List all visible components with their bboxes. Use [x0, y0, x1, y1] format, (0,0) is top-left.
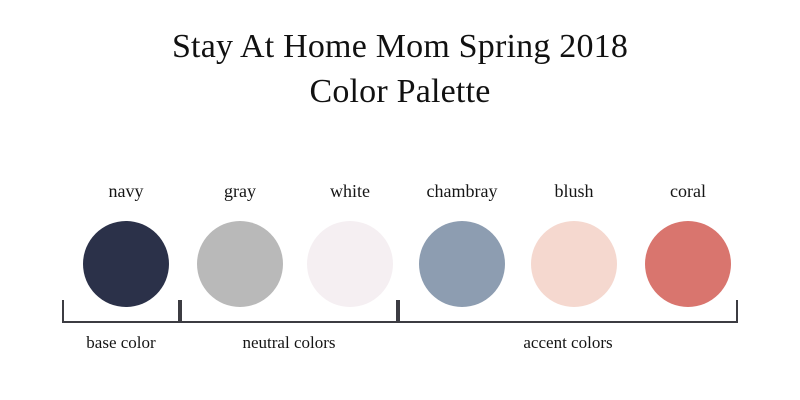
bracket-accent — [398, 300, 738, 323]
bracket-caption: base color — [62, 332, 180, 354]
bracket-caption: neutral colors — [180, 332, 398, 354]
bracket-neutral — [180, 300, 398, 323]
bracket-caption: accent colors — [398, 332, 738, 354]
bracket-base — [62, 300, 180, 323]
color-palette-card: Stay At Home Mom Spring 2018 Color Palet… — [0, 0, 800, 400]
bracket-row: base colorneutral colorsaccent colors — [0, 0, 800, 400]
